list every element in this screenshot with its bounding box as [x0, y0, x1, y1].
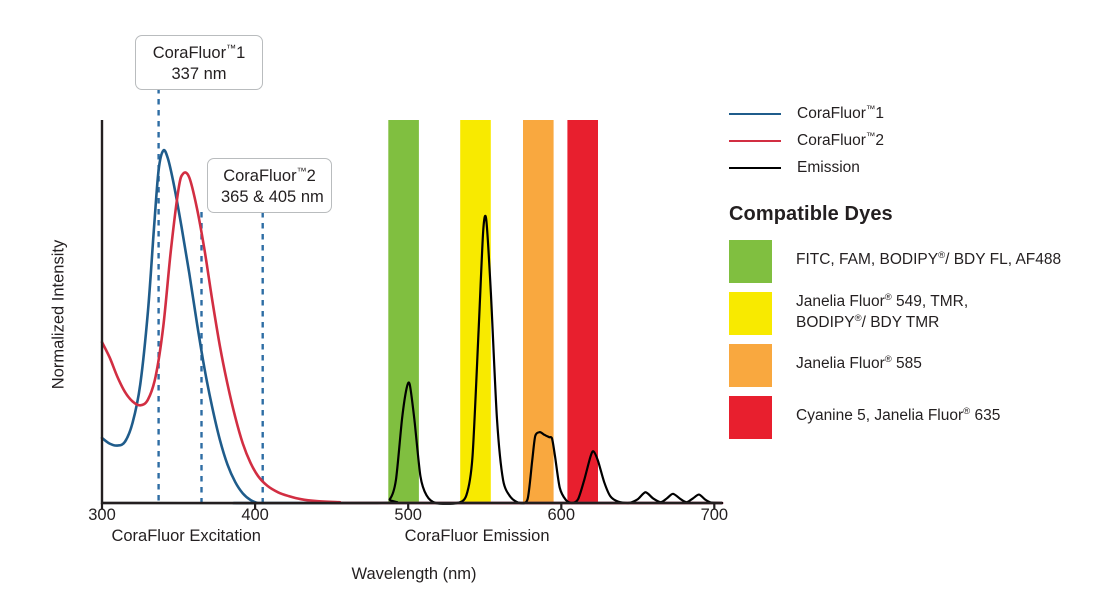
emission-bands-group — [388, 120, 598, 503]
dye-row-3: Janelia Fluor® 585 — [729, 343, 1099, 387]
dye-label: Janelia Fluor® 549, TMR,BODIPY®/ BDY TMR — [796, 292, 968, 334]
dye-color-swatch — [729, 240, 772, 283]
callout-corafluor1-line1: CoraFluor™1 — [149, 43, 249, 64]
legend-row-2: CoraFluor™2 — [729, 127, 1099, 154]
callout-corafluor2-line2: 365 & 405 nm — [221, 187, 318, 208]
dye-color-swatch — [729, 344, 772, 387]
compatible-dyes-title: Compatible Dyes — [729, 203, 1099, 226]
legend-label: CoraFluor™1 — [797, 104, 884, 123]
dye-label: Janelia Fluor® 585 — [796, 354, 922, 375]
legend-line-swatch — [729, 167, 781, 169]
legend-label: Emission — [797, 159, 860, 177]
legend-row-3: Emission — [729, 154, 1099, 181]
dye-row-1: FITC, FAM, BODIPY®/ BDY FL, AF488 — [729, 239, 1099, 283]
legend-row-1: CoraFluor™1 — [729, 100, 1099, 127]
x-tick-label-600: 600 — [526, 506, 596, 525]
compatible-dyes-list: FITC, FAM, BODIPY®/ BDY FL, AF488Janelia… — [729, 239, 1099, 439]
yellow-band — [460, 120, 491, 503]
dye-row-4: Cyanine 5, Janelia Fluor® 635 — [729, 395, 1099, 439]
registered-icon: ® — [885, 292, 892, 303]
green-band — [388, 120, 419, 503]
dye-label-line1: Janelia Fluor® 585 — [796, 354, 922, 375]
x-axis-sublabel-excitation: CoraFluor Excitation — [36, 527, 336, 546]
dye-label-line2: BODIPY®/ BDY TMR — [796, 313, 968, 334]
dye-label: Cyanine 5, Janelia Fluor® 635 — [796, 406, 1000, 427]
callout-corafluor1-line2: 337 nm — [149, 64, 249, 85]
legend-label: CoraFluor™2 — [797, 131, 884, 150]
trademark-icon: ™ — [226, 44, 236, 55]
x-axis-sublabel-emission: CoraFluor Emission — [327, 527, 627, 546]
trademark-icon: ™ — [297, 167, 307, 178]
x-tick-label-300: 300 — [67, 506, 137, 525]
dye-color-swatch — [729, 292, 772, 335]
orange-band — [523, 120, 554, 503]
y-axis-title: Normalized Intensity — [50, 230, 69, 400]
trademark-icon: ™ — [866, 104, 876, 115]
callout-corafluor2-line1: CoraFluor™2 — [221, 166, 318, 187]
x-tick-label-400: 400 — [220, 506, 290, 525]
callout-corafluor1: CoraFluor™1 337 nm — [135, 35, 263, 90]
registered-icon: ® — [885, 354, 892, 365]
callout-corafluor2: CoraFluor™2 365 & 405 nm — [207, 158, 332, 213]
red-band — [567, 120, 598, 503]
series-legend: CoraFluor™1CoraFluor™2Emission — [729, 100, 1099, 181]
legend-panel: CoraFluor™1CoraFluor™2Emission Compatibl… — [729, 100, 1099, 447]
dye-row-2: Janelia Fluor® 549, TMR,BODIPY®/ BDY TMR — [729, 291, 1099, 335]
dye-label-line1: Janelia Fluor® 549, TMR, — [796, 292, 968, 313]
registered-icon: ® — [855, 313, 862, 324]
dye-label: FITC, FAM, BODIPY®/ BDY FL, AF488 — [796, 250, 1061, 271]
legend-line-swatch — [729, 113, 781, 115]
dye-label-line1: Cyanine 5, Janelia Fluor® 635 — [796, 406, 1000, 427]
x-tick-label-500: 500 — [373, 506, 443, 525]
legend-line-swatch — [729, 140, 781, 142]
figure-root: CoraFluor™1 337 nm CoraFluor™2 365 & 405… — [0, 0, 1110, 612]
dye-color-swatch — [729, 396, 772, 439]
trademark-icon: ™ — [866, 131, 876, 142]
dye-label-line1: FITC, FAM, BODIPY®/ BDY FL, AF488 — [796, 250, 1061, 271]
x-axis-title: Wavelength (nm) — [289, 565, 539, 584]
x-tick-label-700: 700 — [679, 506, 749, 525]
